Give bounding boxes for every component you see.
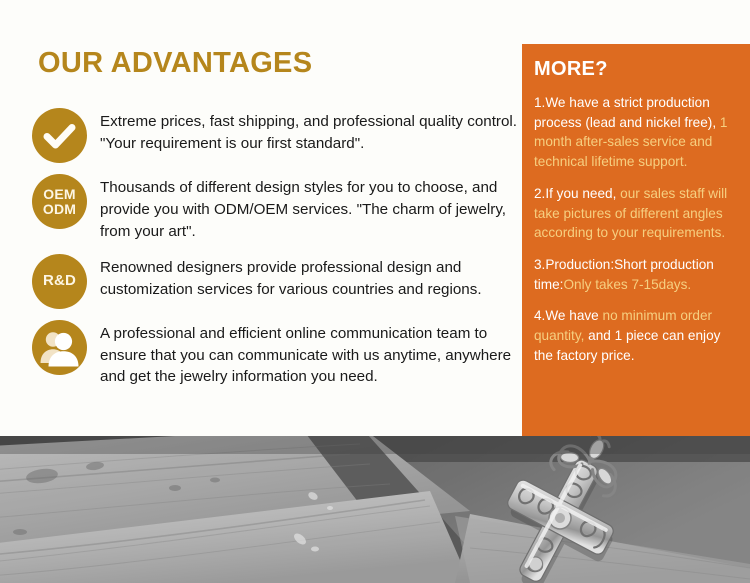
more-item-1-part-1: 1.We have a strict production process (l… (534, 95, 720, 130)
more-item-2: 2.If you need, our sales staff will take… (534, 184, 740, 243)
oem-odm-icon: OEM ODM (32, 174, 87, 229)
more-item-3: 3.Production:Short production time:Only … (534, 255, 740, 294)
page-title: OUR ADVANTAGES (38, 49, 312, 78)
advantage-text: Extreme prices, fast shipping, and profe… (100, 108, 518, 155)
advantage-text: Renowned designers provide professional … (100, 254, 518, 301)
oem-label: OEM (43, 187, 76, 202)
list-item: OEM ODM Thousands of different design st… (32, 174, 518, 243)
more-panel-title: MORE? (534, 58, 740, 80)
advantages-list: Extreme prices, fast shipping, and profe… (32, 108, 518, 399)
check-circle-icon (32, 108, 87, 163)
advantages-banner: OUR ADVANTAGES Extreme prices, fast ship… (0, 0, 750, 583)
list-item: A professional and efficient online comm… (32, 320, 518, 389)
more-item-2-part-1: 2.If you need, (534, 186, 620, 201)
more-item-4-part-1: 4.We have (534, 308, 603, 323)
list-item: R&D Renowned designers provide professio… (32, 254, 518, 309)
advantage-text: Thousands of different design styles for… (100, 174, 518, 243)
odm-label: ODM (43, 202, 76, 217)
more-item-1: 1.We have a strict production process (l… (534, 93, 740, 172)
jewelry-cross-pendant-photo (0, 436, 750, 583)
more-item-3-part-2: Only takes 7-15days. (563, 277, 691, 292)
rnd-label: R&D (43, 273, 76, 289)
advantage-text: A professional and efficient online comm… (100, 320, 518, 389)
more-item-4: 4.We have no minimum order quantity, and… (534, 306, 740, 365)
rnd-icon: R&D (32, 254, 87, 309)
users-icon (32, 320, 87, 375)
advantages-section: OUR ADVANTAGES Extreme prices, fast ship… (0, 0, 522, 438)
more-info-panel: MORE? 1.We have a strict production proc… (522, 44, 750, 436)
list-item: Extreme prices, fast shipping, and profe… (32, 108, 518, 163)
